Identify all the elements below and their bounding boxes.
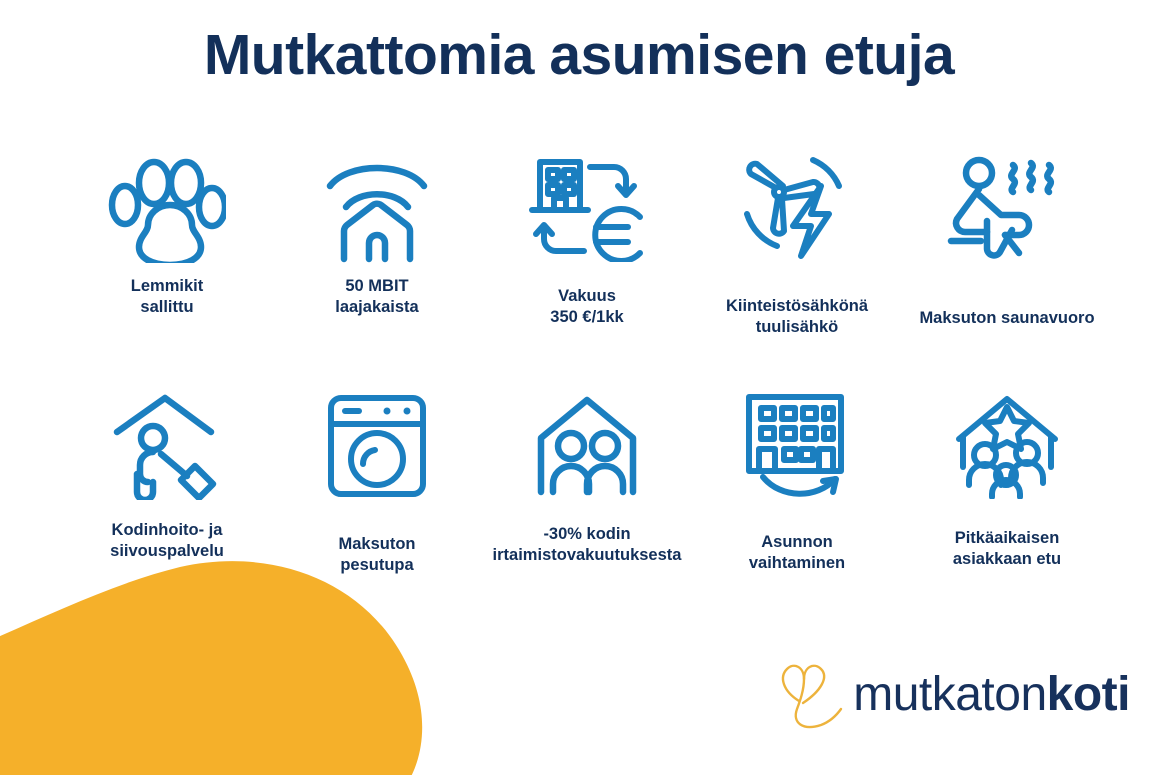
cleaning-person-icon xyxy=(109,390,225,502)
page-title: Mutkattomia asumisen etuja xyxy=(0,26,1158,86)
benefit-label: Maksuton pesutupa xyxy=(338,534,415,576)
logo-text-light: mutkaton xyxy=(853,668,1046,721)
brand-logo[interactable]: mutkatonkoti xyxy=(773,657,1130,733)
benefit-label: Kodinhoito- ja siivouspalvelu xyxy=(110,520,224,562)
washing-machine-icon xyxy=(325,390,429,502)
benefit-label: Lemmikit sallittu xyxy=(131,276,203,318)
benefit-card-sauna[interactable]: Maksuton saunavuoro xyxy=(902,152,1112,338)
benefit-card-deposit[interactable]: Vakuus 350 €/1kk xyxy=(482,152,692,338)
benefit-card-broadband[interactable]: 50 MBIT laajakaista xyxy=(272,152,482,338)
benefit-label: Maksuton saunavuoro xyxy=(919,308,1094,329)
benefits-row-2: Kodinhoito- ja siivouspalvelu Maksuton p… xyxy=(62,390,1112,576)
slide-canvas: Mutkattomia asumisen etuja Lemmikit sall… xyxy=(0,0,1158,775)
benefit-card-wind-power[interactable]: Kiinteistösähkönä tuulisähkö xyxy=(692,152,902,338)
benefit-card-pets[interactable]: Lemmikit sallittu xyxy=(62,152,272,338)
logo-text-bold: koti xyxy=(1047,668,1130,721)
benefit-label: Vakuus 350 €/1kk xyxy=(550,286,623,328)
benefit-label: Kiinteistösähkönä tuulisähkö xyxy=(726,296,868,338)
benefit-card-cleaning[interactable]: Kodinhoito- ja siivouspalvelu xyxy=(62,390,272,576)
benefit-card-laundry[interactable]: Maksuton pesutupa xyxy=(272,390,482,576)
wifi-house-icon xyxy=(322,152,432,264)
benefit-label: -30% kodin irtaimistovakuutuksesta xyxy=(493,524,682,566)
benefit-label: Pitkäaikaisen asiakkaan etu xyxy=(953,528,1061,570)
benefit-card-apartment-swap[interactable]: Asunnon vaihtaminen xyxy=(692,390,902,576)
benefit-label: Asunnon vaihtaminen xyxy=(749,532,845,574)
wind-turbine-bolt-icon xyxy=(735,152,859,264)
apartment-swap-icon xyxy=(741,390,853,502)
benefit-label: 50 MBIT laajakaista xyxy=(335,276,418,318)
orange-blob-decoration xyxy=(0,545,460,775)
roof-star-people-icon xyxy=(949,390,1065,502)
benefit-card-insurance[interactable]: -30% kodin irtaimistovakuutuksesta xyxy=(482,390,692,576)
sauna-steam-icon xyxy=(945,152,1069,264)
paw-print-icon xyxy=(108,152,226,264)
house-family-icon xyxy=(529,390,645,502)
benefits-row-1: Lemmikit sallittu 50 MBIT laajakaista xyxy=(62,152,1112,338)
heart-swoosh-icon xyxy=(773,657,847,733)
benefit-card-loyalty[interactable]: Pitkäaikaisen asiakkaan etu xyxy=(902,390,1112,576)
logo-wordmark: mutkatonkoti xyxy=(853,671,1130,719)
building-euro-icon xyxy=(522,152,652,264)
